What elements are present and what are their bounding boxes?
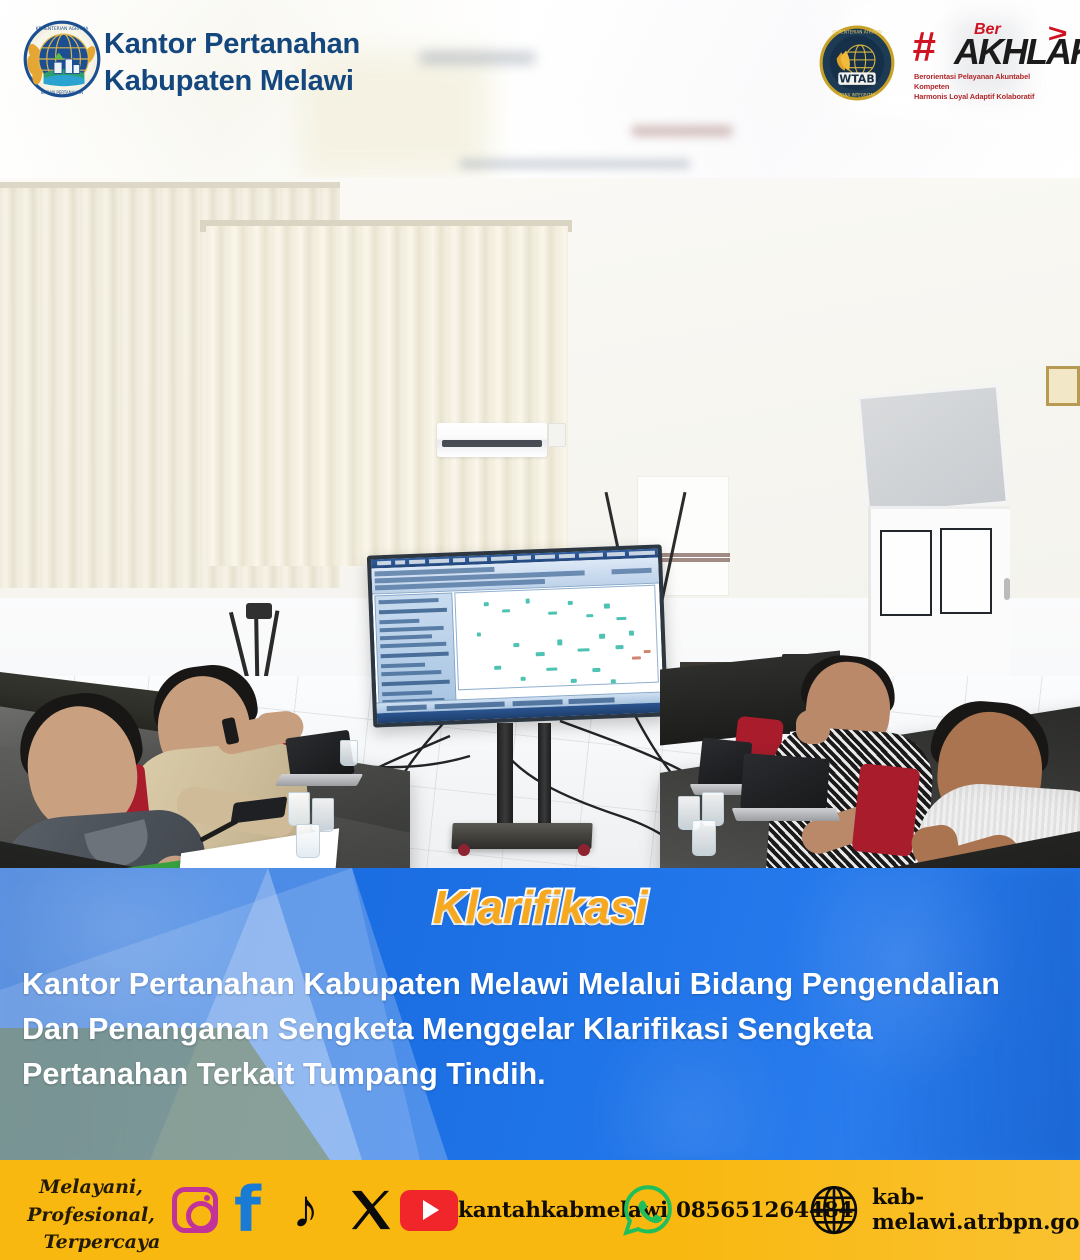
tripod-head xyxy=(246,603,272,619)
window-right xyxy=(857,384,1009,516)
atr-bpn-logo-icon: KEMENTERIAN AGRARIA BADAN PERTANAHAN xyxy=(22,18,102,100)
caption-banner: Klarifikasi Kantor Pertanahan Kabupaten … xyxy=(0,868,1080,1160)
wtab-zona-integritas-icon: WTAB KEMENTERIAN ATR/BPN ZONA INTEGRITAS xyxy=(818,24,896,102)
drinking-glass xyxy=(288,792,310,826)
berakhlak-values: Berorientasi Pelayanan Akuntabel Kompete… xyxy=(914,72,1066,102)
x-twitter-icon[interactable] xyxy=(348,1160,394,1260)
door-pane xyxy=(940,528,992,614)
globe-glyph xyxy=(806,1182,862,1238)
banner-body: Kantor Pertanahan Kabupaten Melawi Melal… xyxy=(22,962,1058,1097)
banner-body-line-2: Dan Penanganan Sengketa Menggelar Klarif… xyxy=(22,1007,1058,1052)
chevron-right-icon: > xyxy=(1048,20,1068,46)
header-backdrop-blur xyxy=(420,52,535,64)
facebook-icon[interactable]: f xyxy=(234,1160,261,1260)
wall-certificate xyxy=(1046,366,1080,406)
display-stand-pole xyxy=(497,723,513,833)
instagram-lens-dot xyxy=(204,1195,210,1201)
service-tagline: Melayani, Profesional, Terpercaya xyxy=(8,1174,174,1257)
meeting-photo xyxy=(0,178,1080,868)
app-side-panel xyxy=(374,592,456,703)
window-curtain-center xyxy=(206,226,568,566)
berakhlak-values-line-1: Berorientasi Pelayanan Akuntabel Kompete… xyxy=(914,72,1066,92)
youtube-glyph xyxy=(400,1190,458,1231)
laptop-screen xyxy=(740,753,830,815)
whatsapp-glyph xyxy=(620,1182,676,1238)
drinking-glass xyxy=(340,740,358,766)
poster-header: KEMENTERIAN AGRARIA BADAN PERTANAHAN Kan… xyxy=(0,0,1080,178)
x-glyph xyxy=(348,1187,394,1233)
tagline-line-1: Melayani, Profesional, xyxy=(27,1176,155,1226)
banner-body-line-3: Pertanahan Terkait Tumpang Tindih. xyxy=(22,1052,1058,1097)
instagram-glyph xyxy=(172,1187,218,1233)
svg-text:BADAN PERTANAHAN: BADAN PERTANAHAN xyxy=(41,90,83,95)
organization-title: Kantor Pertanahan Kabupaten Melawi xyxy=(104,26,360,100)
poster-root: KEMENTERIAN AGRARIA BADAN PERTANAHAN Kan… xyxy=(0,0,1080,1260)
stand-caster xyxy=(578,844,590,856)
berakhlak-values-line-2: Harmonis Loyal Adaptif Kolaboratif xyxy=(914,92,1066,102)
globe-icon[interactable] xyxy=(806,1160,862,1260)
org-line-2: Kabupaten Melawi xyxy=(104,63,360,100)
meeting-chair xyxy=(852,763,921,857)
instagram-icon[interactable] xyxy=(172,1160,218,1260)
header-backdrop-blur xyxy=(632,126,732,136)
svg-text:KEMENTERIAN ATR/BPN: KEMENTERIAN ATR/BPN xyxy=(832,29,882,34)
facebook-glyph: f xyxy=(234,1185,261,1235)
svg-text:WTAB: WTAB xyxy=(839,73,874,86)
header-backdrop-blur xyxy=(460,160,690,168)
whatsapp-icon[interactable] xyxy=(620,1160,676,1260)
display-stand-base xyxy=(451,823,592,849)
tiktok-glyph: ♪ xyxy=(292,1188,319,1231)
banner-body-line-1: Kantor Pertanahan Kabupaten Melawi Melal… xyxy=(22,962,1058,1007)
gis-map-canvas xyxy=(454,585,659,691)
tagline-line-2: Terpercaya xyxy=(8,1229,174,1257)
youtube-icon[interactable] xyxy=(400,1160,458,1260)
tiktok-icon[interactable]: ♪ xyxy=(292,1160,319,1260)
ac-wall-bracket xyxy=(548,423,566,447)
hash-icon: # xyxy=(912,26,932,68)
banner-title: Klarifikasi xyxy=(0,880,1080,934)
stand-caster xyxy=(458,844,470,856)
display-screen xyxy=(371,549,664,724)
org-line-1: Kantor Pertanahan xyxy=(104,28,360,60)
door-pane xyxy=(880,530,932,616)
laptop-keyboard xyxy=(732,808,841,821)
person-hand xyxy=(796,710,830,744)
laptop-keyboard xyxy=(275,774,363,786)
display-stand-pole xyxy=(538,723,551,833)
door-handle xyxy=(1004,578,1010,600)
drinking-glass xyxy=(296,824,320,858)
svg-text:ZONA INTEGRITAS: ZONA INTEGRITAS xyxy=(839,93,876,98)
svg-text:KEMENTERIAN AGRARIA: KEMENTERIAN AGRARIA xyxy=(36,26,89,32)
contact-footer: Melayani, Profesional, Terpercaya f ♪ ka… xyxy=(0,1160,1080,1260)
website-url[interactable]: kab-melawi.atrbpn.go.id xyxy=(872,1160,1080,1260)
berakhlak-logo: # Ber AKHLAK > Berorientasi Pelayanan Ak… xyxy=(912,22,1067,102)
presentation-display xyxy=(367,544,668,727)
air-conditioner xyxy=(437,423,547,457)
drinking-glass xyxy=(692,820,716,856)
